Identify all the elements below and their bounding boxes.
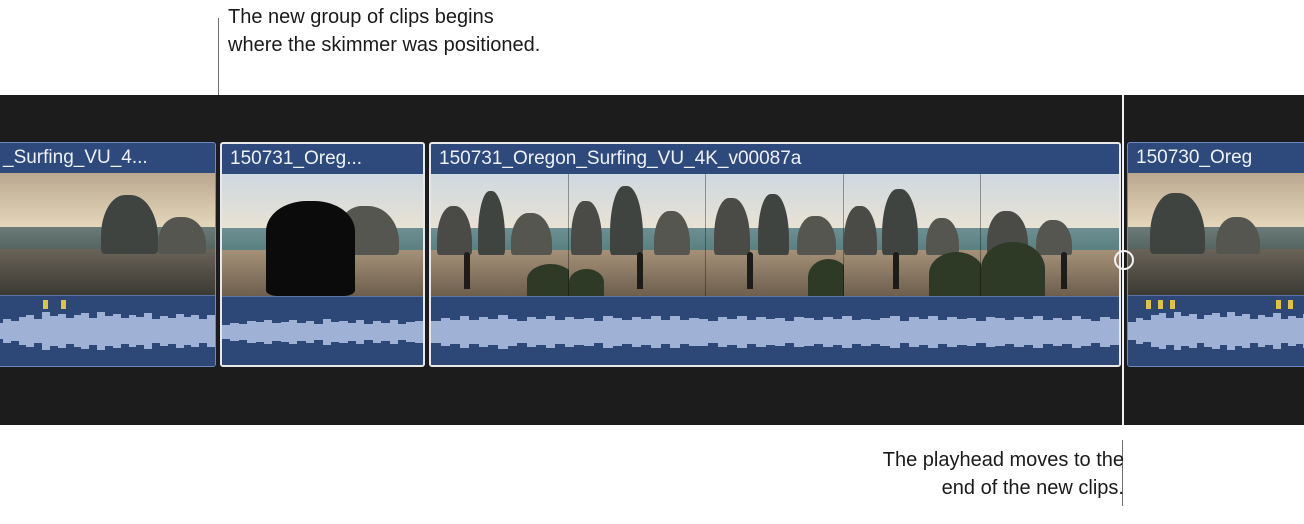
timeline-clip-selected-group[interactable]: 150731_Oregon_Surfing_VU_4K_v00087a	[429, 142, 1121, 367]
filmstrip-frame	[1128, 173, 1304, 295]
filmstrip-frame	[222, 174, 423, 296]
callout-text-bottom: The playhead moves to the end of the new…	[883, 446, 1124, 502]
clip-title: 150730_Oreg	[1128, 143, 1304, 173]
audio-peak-marker	[43, 300, 48, 309]
filmstrip-frame	[706, 174, 844, 296]
filmstrip-frame	[431, 174, 569, 296]
audio-peak-marker	[61, 300, 66, 309]
playhead[interactable]	[1122, 95, 1124, 425]
clip-audio-waveform	[431, 296, 1119, 367]
timeline-clip-partial-right[interactable]: 150730_Oreg	[1127, 142, 1304, 367]
frame-person	[747, 252, 753, 289]
filmstrip-frame	[844, 174, 982, 296]
waveform-bars	[0, 304, 215, 358]
waveform-bars	[1128, 304, 1304, 358]
clip-title: 150731_Oregon_Surfing_VU_4K_v00087a	[431, 144, 1119, 174]
clip-title: _Surfing_VU_4...	[0, 143, 215, 173]
frame-person	[1061, 252, 1067, 289]
frame-foreground	[0, 249, 215, 295]
clip-audio-waveform	[222, 296, 423, 367]
frame-person	[637, 252, 643, 289]
clip-audio-waveform	[0, 295, 215, 366]
clip-audio-waveform	[1128, 295, 1304, 366]
audio-peak-marker	[1158, 300, 1163, 309]
waveform-bars	[222, 305, 423, 359]
frame-bush	[808, 259, 844, 296]
timeline-clip-second[interactable]: 150731_Oreg...	[220, 142, 425, 367]
filmstrip-frame	[981, 174, 1119, 296]
audio-peak-marker	[1288, 300, 1293, 309]
frame-bush	[569, 269, 605, 296]
frame-person	[893, 252, 899, 289]
timeline-clip-partial-left[interactable]: _Surfing_VU_4...	[0, 142, 216, 367]
frame-bush	[981, 242, 1044, 296]
clip-filmstrip	[1128, 173, 1304, 295]
frame-person	[464, 252, 470, 289]
frame-bush	[929, 252, 981, 296]
frame-person-silhouette	[266, 201, 354, 296]
frame-bush	[527, 264, 568, 296]
callout-text-top: The new group of clips begins where the …	[228, 3, 540, 59]
clip-filmstrip	[222, 174, 423, 296]
clip-title: 150731_Oreg...	[222, 144, 423, 174]
audio-peak-marker	[1146, 300, 1151, 309]
timeline-panel[interactable]: _Surfing_VU_4...	[0, 95, 1304, 425]
playhead-knob[interactable]	[1114, 250, 1134, 270]
filmstrip-frame	[569, 174, 707, 296]
audio-peak-marker	[1170, 300, 1175, 309]
audio-peak-marker	[1276, 300, 1281, 309]
waveform-bars	[431, 305, 1119, 359]
clip-filmstrip	[431, 174, 1119, 296]
filmstrip-frame	[0, 173, 215, 295]
clip-filmstrip	[0, 173, 215, 295]
